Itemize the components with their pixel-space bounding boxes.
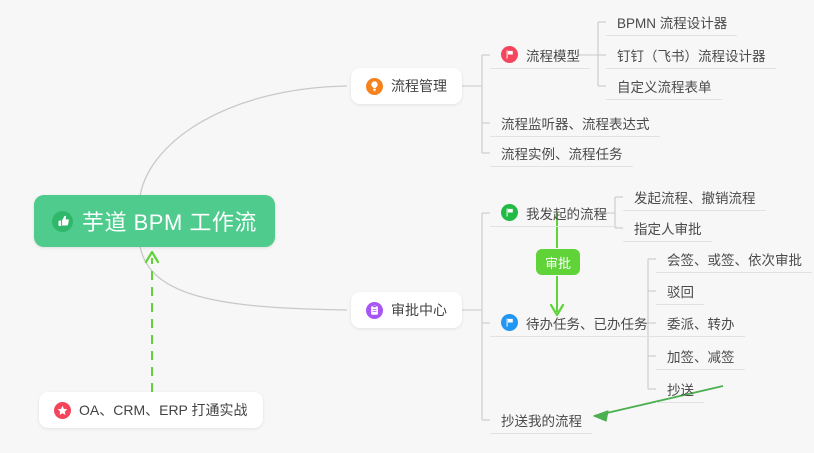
node-process-model[interactable]: 流程模型 [490,41,590,69]
flag-icon [501,204,518,221]
mindmap-canvas: 芋道 BPM 工作流 流程管理 流程模型 BPMN 流程设计器 钉钉（飞书）流程 [0,0,814,453]
node-label: 委派、转办 [667,313,735,333]
branch-node-process-management[interactable]: 流程管理 [351,68,462,104]
branch-node-label: 审批中心 [391,300,447,320]
star-icon [54,402,71,419]
node-dingtalk-feishu-designer[interactable]: 钉钉（飞书）流程设计器 [606,41,776,69]
node-label: 驳回 [667,281,694,301]
node-label: 流程实例、流程任务 [501,143,623,163]
node-label: 流程监听器、流程表达式 [501,113,650,133]
node-reject[interactable]: 驳回 [656,277,704,305]
node-cc-to-me-processes[interactable]: 抄送我的流程 [490,406,592,434]
node-label: 加签、减签 [667,346,735,366]
node-label: 抄送 [667,379,694,399]
node-label: BPMN 流程设计器 [617,12,727,32]
node-label: 流程模型 [526,45,580,65]
node-label: 我发起的流程 [526,203,607,223]
node-process-instance-task[interactable]: 流程实例、流程任务 [490,139,633,167]
node-countersign-orsign-sequential[interactable]: 会签、或签、依次审批 [656,245,812,273]
clipboard-icon [366,302,383,319]
root-node[interactable]: 芋道 BPM 工作流 [34,195,275,247]
node-cc[interactable]: 抄送 [656,375,704,403]
node-label: 会签、或签、依次审批 [667,249,802,269]
node-label: 待办任务、已办任务 [526,313,648,333]
node-delegate-transfer[interactable]: 委派、转办 [656,309,745,337]
lightbulb-icon [366,78,383,95]
node-label: 指定人审批 [634,218,702,238]
root-node-label: 芋道 BPM 工作流 [82,205,257,237]
branch-node-approval-center[interactable]: 审批中心 [351,292,462,328]
node-todo-done-tasks[interactable]: 待办任务、已办任务 [490,309,658,337]
node-designated-approver[interactable]: 指定人审批 [623,214,712,242]
node-label: 抄送我的流程 [501,410,582,430]
approval-badge-label: 审批 [545,253,571,272]
node-bpmn-designer[interactable]: BPMN 流程设计器 [606,8,737,36]
thumbs-up-icon [52,211,73,232]
node-label: 自定义流程表单 [617,76,712,96]
node-process-listener-expression[interactable]: 流程监听器、流程表达式 [490,109,660,137]
node-label: 发起流程、撤销流程 [634,187,756,207]
node-my-initiated-processes[interactable]: 我发起的流程 [490,199,617,227]
node-start-cancel-process[interactable]: 发起流程、撤销流程 [623,183,766,211]
node-label: 钉钉（飞书）流程设计器 [617,45,766,65]
node-custom-process-form[interactable]: 自定义流程表单 [606,72,722,100]
branch-node-label: 流程管理 [391,76,447,96]
flag-icon [501,314,518,331]
node-add-remove-sign[interactable]: 加签、减签 [656,342,745,370]
flag-icon [501,46,518,63]
note-node-integration[interactable]: OA、CRM、ERP 打通实战 [39,392,263,428]
note-node-label: OA、CRM、ERP 打通实战 [79,400,248,420]
approval-badge[interactable]: 审批 [536,249,580,275]
